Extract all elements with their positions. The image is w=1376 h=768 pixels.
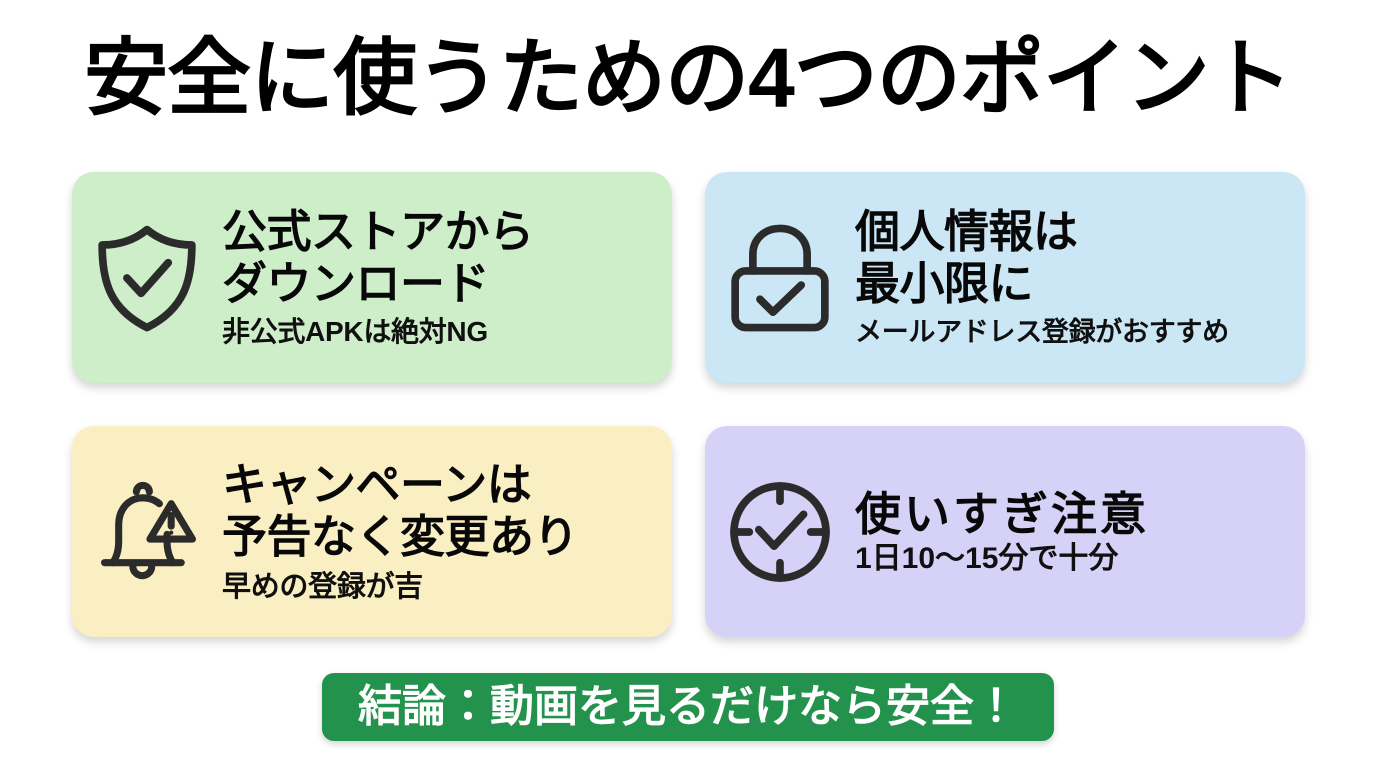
card-subtitle: 1日10〜15分で十分 xyxy=(855,542,1291,576)
lock-check-icon xyxy=(705,198,855,358)
card-heading-line1: キャンペーンは xyxy=(222,459,531,510)
card-text: キャンペーンは 予告なく変更あり 早めの登録が吉 xyxy=(222,459,672,604)
card-heading: 公式ストアから ダウンロード xyxy=(222,206,658,310)
card-text: 使いすぎ注意 1日10〜15分で十分 xyxy=(855,488,1305,576)
card-text: 個人情報は 最小限に メールアドレス登録がおすすめ xyxy=(855,206,1305,349)
card-subtitle: 非公式APKは絶対NG xyxy=(222,315,658,349)
points-grid: 公式ストアから ダウンロード 非公式APKは絶対NG 個人情報は 最小限に xyxy=(72,172,1305,637)
page-title: 安全に使うための4つのポイント xyxy=(0,30,1376,126)
card-subtitle: 早めの登録が吉 xyxy=(222,570,658,604)
point-card-official-store[interactable]: 公式ストアから ダウンロード 非公式APKは絶対NG xyxy=(72,172,672,383)
infographic-slide: 安全に使うための4つのポイント 公式ストアから ダウンロード 非公式APKは絶対… xyxy=(0,0,1376,768)
card-heading-line2: 最小限に xyxy=(855,258,1291,310)
card-heading-line2: 予告なく変更あり xyxy=(222,511,658,563)
card-heading: 使いすぎ注意 xyxy=(855,488,1291,540)
clock-check-icon xyxy=(705,452,855,612)
card-subtitle: メールアドレス登録がおすすめ xyxy=(855,315,1291,349)
card-heading-line1: 公式ストアから xyxy=(222,206,534,257)
card-heading-line1: 使いすぎ注意 xyxy=(855,488,1149,540)
card-text: 公式ストアから ダウンロード 非公式APKは絶対NG xyxy=(222,206,672,349)
card-heading-line1: 個人情報は xyxy=(855,206,1078,257)
point-card-overuse-warning[interactable]: 使いすぎ注意 1日10〜15分で十分 xyxy=(705,426,1305,637)
conclusion-banner: 結論：動画を見るだけなら安全！ xyxy=(322,673,1054,741)
card-heading-line2: ダウンロード xyxy=(222,258,658,310)
card-heading: キャンペーンは 予告なく変更あり xyxy=(222,459,658,563)
bell-warning-icon xyxy=(72,452,222,612)
conclusion-text: 結論：動画を見るだけなら安全！ xyxy=(358,681,1018,733)
shield-check-icon xyxy=(72,198,222,358)
point-card-campaign-change[interactable]: キャンペーンは 予告なく変更あり 早めの登録が吉 xyxy=(72,426,672,637)
card-heading: 個人情報は 最小限に xyxy=(855,206,1291,310)
point-card-personal-info[interactable]: 個人情報は 最小限に メールアドレス登録がおすすめ xyxy=(705,172,1305,383)
